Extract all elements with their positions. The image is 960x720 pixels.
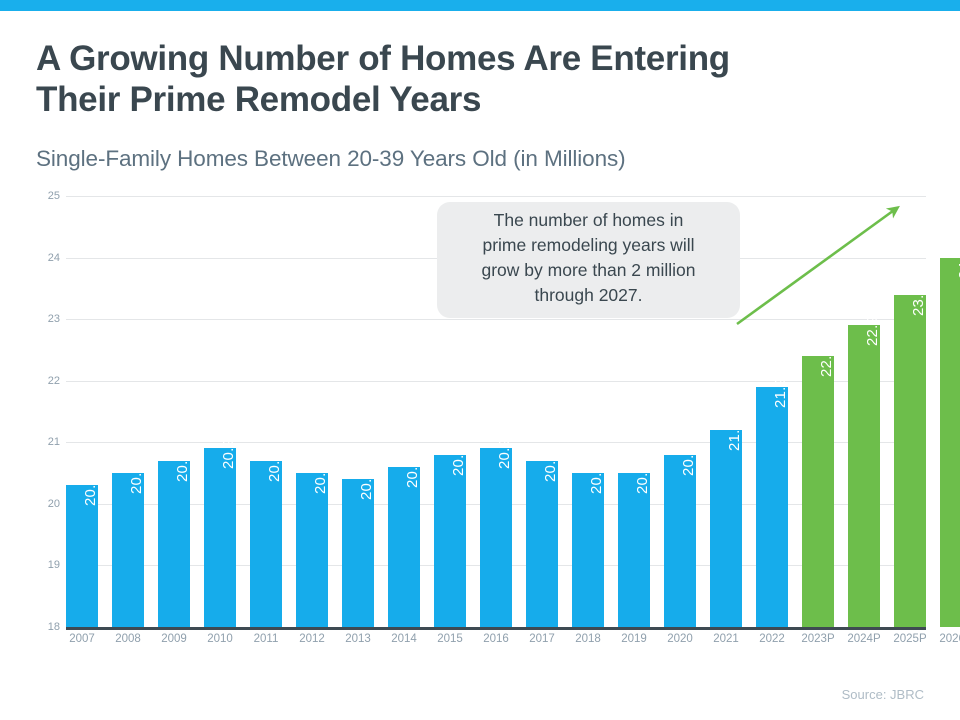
x-tick-label-2026P: 2026P [939,633,960,645]
x-tick-label-2008: 2008 [115,633,141,645]
callout-annotation: The number of homes in prime remodeling … [437,202,740,318]
bar-value-label: 24.0 [956,249,960,279]
bar-2018[interactable]: 20.5 [572,473,604,627]
x-tick-label-2014: 2014 [391,633,417,645]
x-tick-label-2018: 2018 [575,633,601,645]
bar-value-label: 20.7 [174,452,191,482]
chart-plot-area: 1819202122232425 20.320.520.720.920.720.… [0,0,960,720]
x-tick-label-2023P: 2023P [801,633,834,645]
bar-value-label: 20.6 [404,458,421,488]
y-axis: 1819202122232425 [30,0,60,720]
x-tick-label-2016: 2016 [483,633,509,645]
bar-value-label: 20.7 [266,452,283,482]
bar-value-label: 21.9 [772,378,789,408]
bar-value-label: 20.4 [358,470,375,500]
y-tick-label: 21 [34,436,60,448]
x-tick-label-2013: 2013 [345,633,371,645]
bar-2019[interactable]: 20.5 [618,473,650,627]
gridline [66,196,926,197]
gridline [66,319,926,320]
bar-2017[interactable]: 20.7 [526,461,558,627]
bar-2016[interactable]: 20.9 [480,448,512,627]
y-tick-label: 23 [34,313,60,325]
bar-value-label: 20.8 [450,446,467,476]
x-tick-label-2024P: 2024P [847,633,880,645]
bar-2022[interactable]: 21.9 [756,387,788,627]
bar-value-label: 20.5 [634,464,651,494]
x-tick-label-2022: 2022 [759,633,785,645]
bar-2011[interactable]: 20.7 [250,461,282,627]
y-tick-label: 22 [34,375,60,387]
bar-value-label: 20.5 [588,464,605,494]
x-tick-label-2009: 2009 [161,633,187,645]
bar-2014[interactable]: 20.6 [388,467,420,627]
bar-value-label: 20.9 [496,439,513,469]
x-tick-label-2020: 2020 [667,633,693,645]
bar-value-label: 23.4 [910,286,927,316]
y-tick-label: 24 [34,252,60,264]
bar-2025P[interactable]: 23.4 [894,295,926,627]
bar-2013[interactable]: 20.4 [342,479,374,627]
bar-value-label: 20.7 [542,452,559,482]
bar-2015[interactable]: 20.8 [434,455,466,627]
y-tick-label: 18 [34,621,60,633]
bar-2012[interactable]: 20.5 [296,473,328,627]
bar-value-label: 20.5 [312,464,329,494]
bar-2026P[interactable]: 24.0 [940,258,960,627]
x-tick-label-2010: 2010 [207,633,233,645]
y-tick-label: 20 [34,498,60,510]
x-tick-label-2012: 2012 [299,633,325,645]
x-axis-baseline [66,627,926,630]
bar-2021[interactable]: 21.2 [710,430,742,627]
bar-2007[interactable]: 20.3 [66,485,98,627]
bar-value-label: 20.3 [82,476,99,506]
x-tick-label-2007: 2007 [69,633,95,645]
bar-2023P[interactable]: 22.4 [802,356,834,627]
bar-2010[interactable]: 20.9 [204,448,236,627]
x-tick-label-2021: 2021 [713,633,739,645]
x-tick-label-2011: 2011 [254,633,279,645]
x-tick-label-2025P: 2025P [893,633,926,645]
source-note: Source: JBRC [842,687,924,702]
y-tick-label: 19 [34,559,60,571]
bar-value-label: 21.2 [726,421,743,451]
x-tick-label-2015: 2015 [437,633,463,645]
x-tick-label-2019: 2019 [621,633,647,645]
y-tick-label: 25 [34,190,60,202]
callout-text: The number of homes in prime remodeling … [482,208,696,307]
bar-2024P[interactable]: 22.9 [848,325,880,627]
bar-value-label: 20.5 [128,464,145,494]
x-tick-label-2017: 2017 [529,633,555,645]
bar-value-label: 20.8 [680,446,697,476]
bar-2008[interactable]: 20.5 [112,473,144,627]
bar-value-label: 22.4 [818,347,835,377]
bar-2009[interactable]: 20.7 [158,461,190,627]
bar-value-label: 20.9 [220,439,237,469]
bar-2020[interactable]: 20.8 [664,455,696,627]
bar-value-label: 22.9 [864,316,881,346]
gridline [66,381,926,382]
